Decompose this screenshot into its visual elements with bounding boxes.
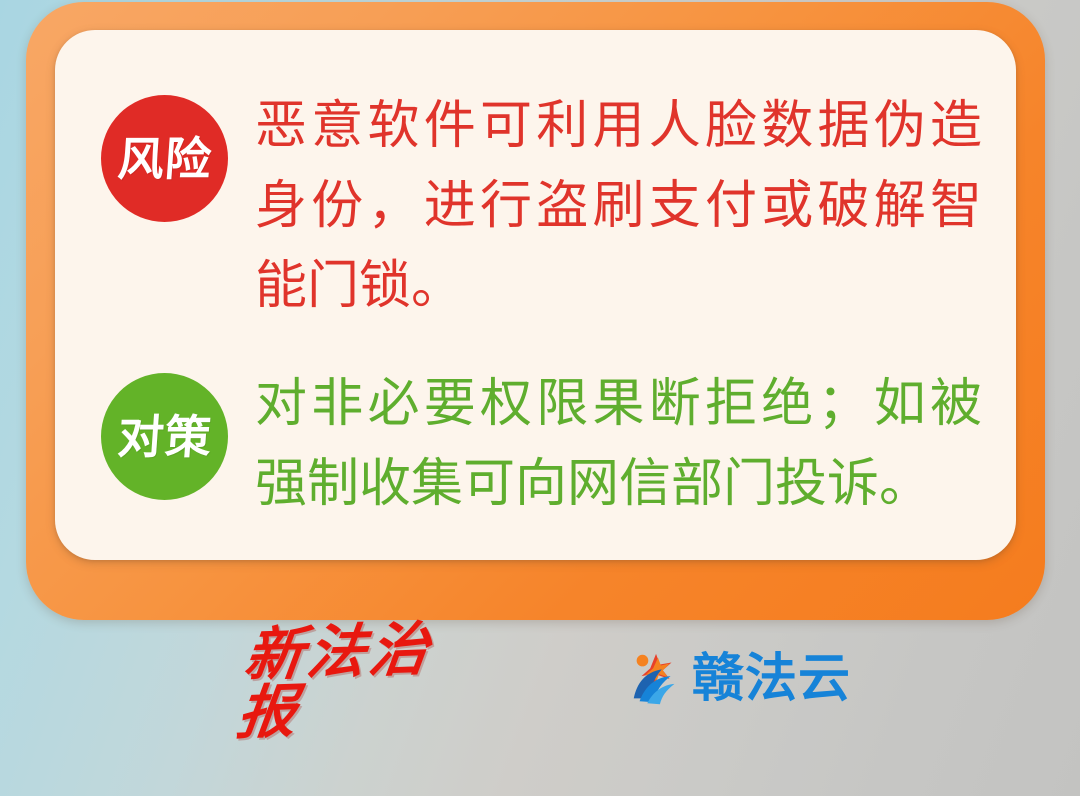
countermeasure-badge-label: 对策 [116, 414, 213, 460]
countermeasure-badge: 对策 [101, 373, 228, 500]
countermeasure-description: 对非必要权限果断拒绝；如被强制收集可向网信部门投诉。 [228, 364, 982, 524]
info-card-panel: 风险 恶意软件可利用人脸数据伪造身份，进行盗刷支付或破解智能门锁。 对策 对非必… [55, 30, 1016, 560]
risk-badge: 风险 [101, 95, 228, 222]
cloud-logo-mark-icon [626, 648, 688, 710]
cloud-logo: 赣法云 [626, 646, 851, 712]
card-content: 风险 恶意软件可利用人脸数据伪造身份，进行盗刷支付或破解智能门锁。 对策 对非必… [55, 30, 1016, 560]
newspaper-logo: 新法治报 [242, 642, 482, 718]
poster-canvas: 风险 恶意软件可利用人脸数据伪造身份，进行盗刷支付或破解智能门锁。 对策 对非必… [0, 0, 1080, 796]
newspaper-logo-text: 新法治报 [234, 618, 489, 742]
cloud-logo-text: 赣法云 [692, 653, 851, 705]
footer-logos: 新法治报 赣法云 [0, 636, 1080, 746]
risk-description: 恶意软件可利用人脸数据伪造身份，进行盗刷支付或破解智能门锁。 [228, 86, 982, 326]
risk-badge-label: 风险 [116, 136, 213, 182]
info-card-frame: 风险 恶意软件可利用人脸数据伪造身份，进行盗刷支付或破解智能门锁。 对策 对非必… [26, 2, 1045, 620]
countermeasure-row: 对策 对非必要权限果断拒绝；如被强制收集可向网信部门投诉。 [101, 364, 982, 524]
risk-row: 风险 恶意软件可利用人脸数据伪造身份，进行盗刷支付或破解智能门锁。 [101, 86, 982, 326]
